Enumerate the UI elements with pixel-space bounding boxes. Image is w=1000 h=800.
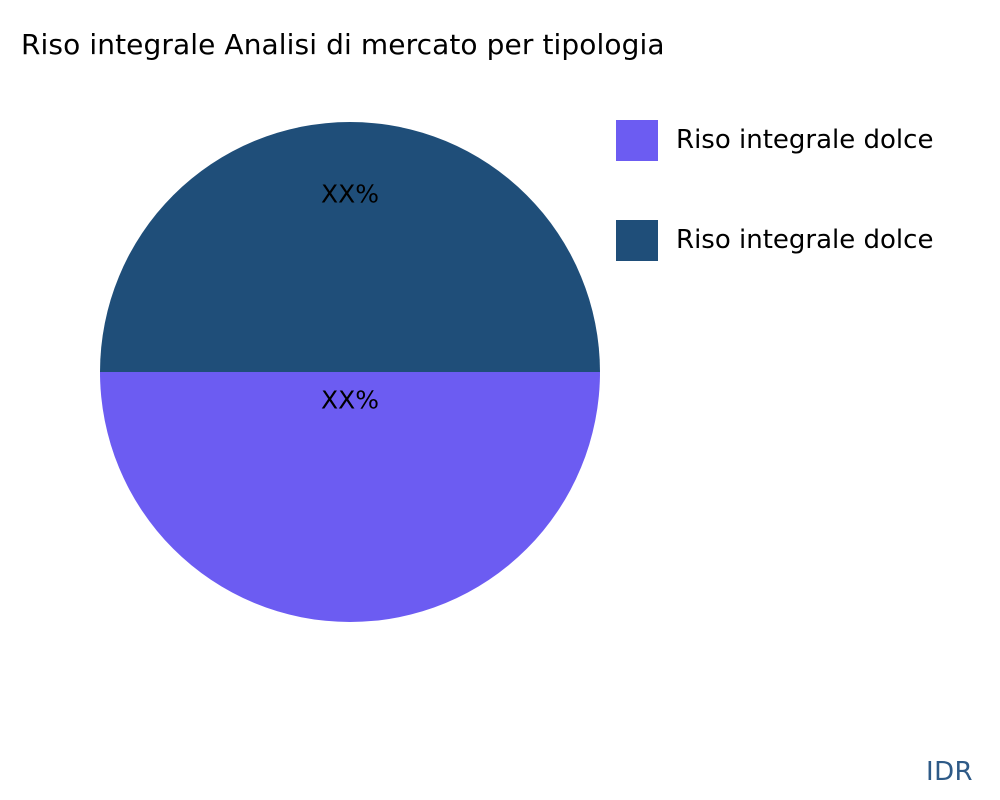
legend-item-riso-integrale-dolce-1[interactable]: Riso integrale dolce xyxy=(616,119,986,161)
pie-slice-label-1: XX% xyxy=(321,388,379,413)
legend-item-label-2: Riso integrale dolce xyxy=(676,225,933,255)
legend-item-riso-integrale-dolce-2[interactable]: Riso integrale dolce xyxy=(616,219,986,261)
watermark-label: IDR xyxy=(926,758,973,786)
pie-chart: XX% XX% xyxy=(100,122,600,622)
pie-slice-riso-integrale-dolce-2[interactable] xyxy=(100,122,600,372)
legend-swatch-icon-2 xyxy=(616,220,658,261)
legend-swatch-icon-1 xyxy=(616,120,658,161)
chart-canvas: Riso integrale Analisi di mercato per ti… xyxy=(0,0,1000,800)
legend-item-label-1: Riso integrale dolce xyxy=(676,125,933,155)
chart-title: Riso integrale Analisi di mercato per ti… xyxy=(21,28,665,62)
pie-slice-label-2: XX% xyxy=(321,182,379,207)
chart-legend: Riso integrale dolce Riso integrale dolc… xyxy=(616,119,986,319)
